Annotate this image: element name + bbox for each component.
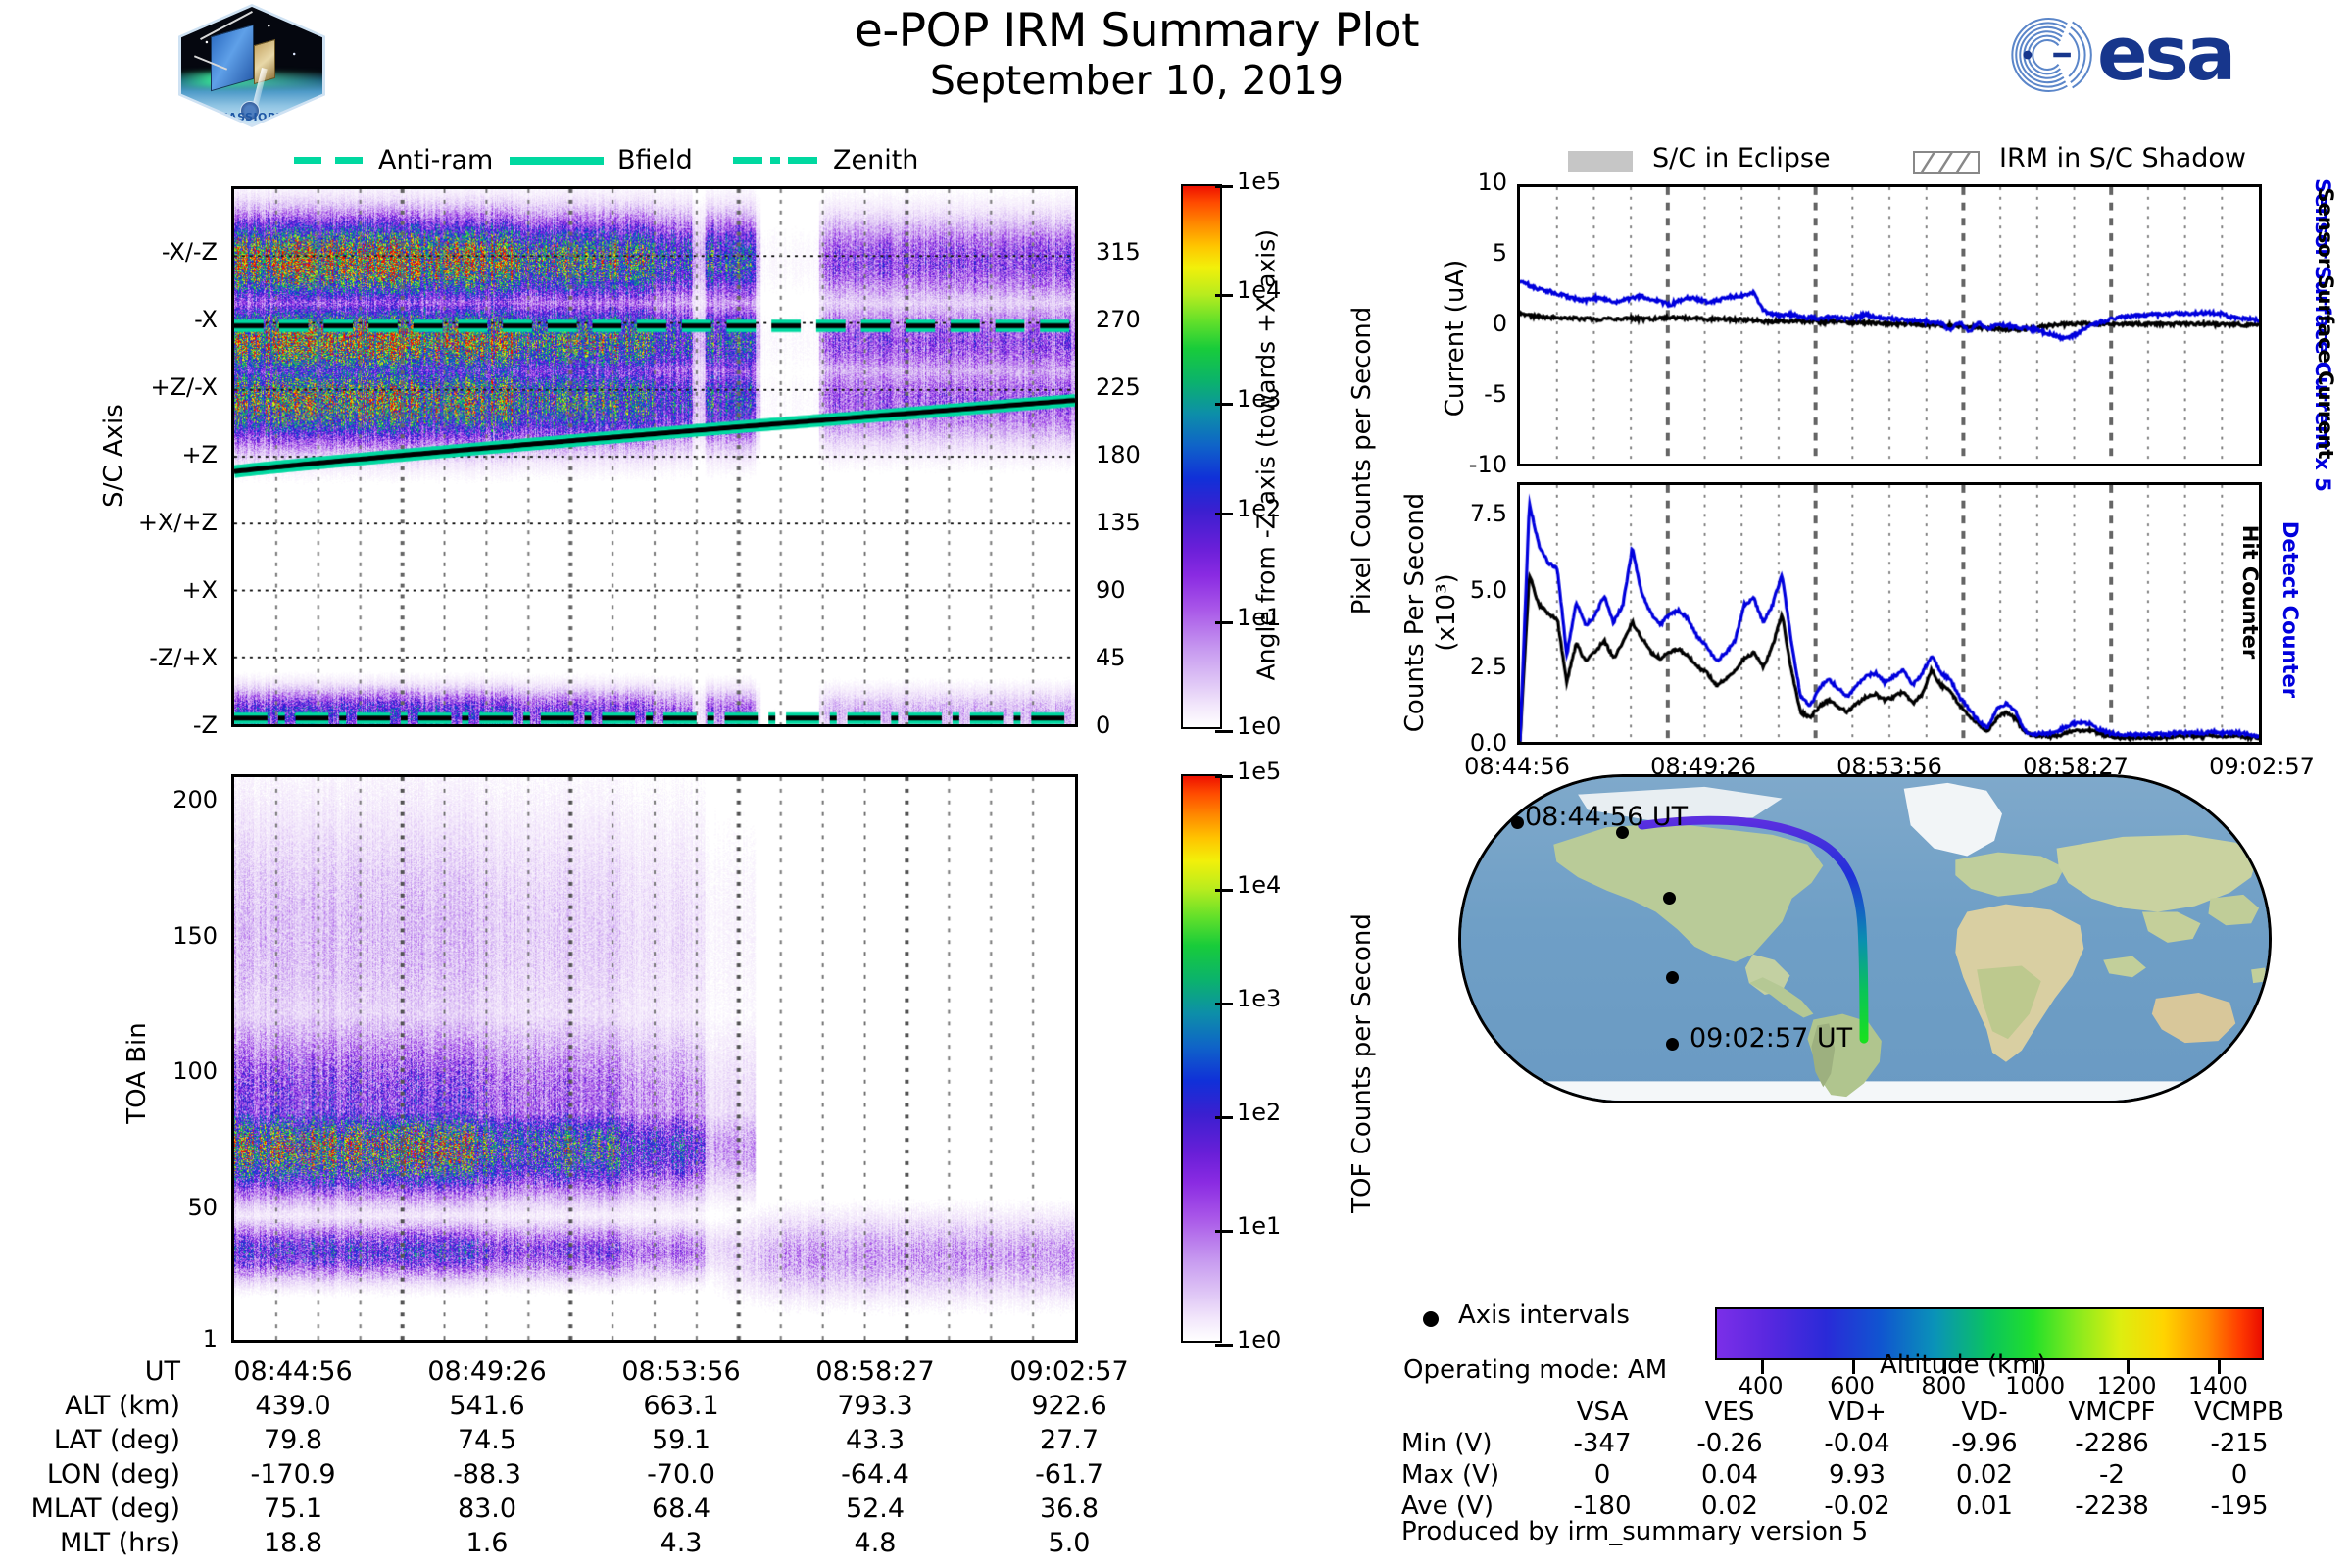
colorbar-tickmark-1	[1215, 889, 1233, 892]
counts-xtick-4: 09:02:57	[2183, 753, 2340, 780]
voltage-header-row: VSAVESVD+VD-VMCPFVCMPB	[1401, 1396, 2303, 1428]
track-end-label: 09:02:57 UT	[1690, 1023, 1852, 1053]
ephemeris-cell: -61.7	[972, 1457, 1166, 1492]
toa-spectrogram-canvas	[234, 777, 1075, 1340]
colorbar-tick-1e0: 1e0	[1237, 712, 1281, 740]
legend-label-shadow: IRM in S/C Shadow	[1999, 143, 2246, 173]
eclipse-swatch	[1568, 151, 1633, 172]
counts-right-label-blue: Detect Counter	[2278, 487, 2302, 732]
ephemeris-cell: 439.0	[196, 1389, 390, 1423]
colorbar-tickmark-2	[1215, 403, 1233, 406]
bfield-legend-swatch	[510, 157, 604, 165]
alt-tick-1400: 1400	[2169, 1372, 2267, 1399]
current-ytick--10: -10	[1401, 451, 1507, 478]
colorbar-tickmark-4	[1215, 621, 1233, 624]
zenith-legend-swatch	[733, 157, 762, 164]
ephemeris-cell: 83.0	[390, 1492, 584, 1526]
esa-logo: esa	[2003, 8, 2297, 102]
zenith-legend-swatch-2	[788, 157, 817, 164]
counts-xtick-0: 08:44:56	[1439, 753, 1595, 780]
counts-plot[interactable]	[1517, 482, 2262, 745]
cassiope-wordmark: CASSIOPE	[181, 111, 322, 123]
track-start-label: 08:44:56 UT	[1525, 802, 1688, 832]
voltage-cell: -347	[1539, 1428, 1666, 1459]
voltage-table: VSAVESVD+VD-VMCPFVCMPBMin (V)-347-0.26-0…	[1401, 1396, 2303, 1522]
page-subtitle: September 10, 2019	[745, 57, 1529, 104]
anti-ram-legend-swatch	[294, 157, 321, 164]
operating-mode-label: Operating mode: AM	[1403, 1355, 1667, 1385]
current-ytick--5: -5	[1401, 380, 1507, 408]
spectrogram-angle-tick-6: 45	[1096, 644, 1154, 671]
esa-swirl-icon	[2003, 12, 2093, 98]
ephemeris-cell: 1.6	[390, 1526, 584, 1560]
toa-ytick-200: 200	[108, 786, 218, 813]
counts-plot-canvas	[1520, 485, 2259, 742]
current-right-label-black: Sensor Surface Current	[2314, 162, 2337, 485]
colorbar-tickmark-5	[1215, 730, 1233, 733]
spectrogram-angle-tick-0: 315	[1096, 238, 1154, 266]
voltage-header-cell: VD-	[1921, 1396, 2048, 1428]
ephemeris-row-label: UT	[20, 1354, 196, 1389]
ephemeris-row: MLT (hrs)18.81.64.34.85.0	[20, 1526, 1166, 1560]
track-start-marker	[1511, 816, 1524, 829]
ephemeris-cell: -170.9	[196, 1457, 390, 1492]
ephemeris-table: UT08:44:5608:49:2608:53:5608:58:2709:02:…	[20, 1354, 1166, 1560]
toa-ytick-100: 100	[108, 1057, 218, 1085]
ephemeris-row: LON (deg)-170.9-88.3-70.0-64.4-61.7	[20, 1457, 1166, 1492]
colorbar-tick-1e2: 1e2	[1237, 495, 1281, 522]
voltage-cell: -195	[2176, 1491, 2303, 1522]
voltage-cell: 9.93	[1793, 1459, 1921, 1491]
produced-by-label: Produced by irm_summary version 5	[1401, 1517, 1868, 1546]
spectrogram-ytick-2: +Z/-X	[88, 373, 218, 401]
voltage-row-label: Min (V)	[1401, 1428, 1539, 1459]
ephemeris-cell: 793.3	[778, 1389, 972, 1423]
spectrogram-angle-tick-2: 225	[1096, 373, 1154, 401]
voltage-header-cell: VES	[1666, 1396, 1793, 1428]
ephemeris-cell: 27.7	[972, 1423, 1166, 1457]
current-ytick-10: 10	[1401, 169, 1507, 196]
ephemeris-cell: -70.0	[584, 1457, 778, 1492]
spectrogram-angle-tick-3: 180	[1096, 441, 1154, 468]
voltage-cell: -215	[2176, 1428, 2303, 1459]
colorbar-tickmark-0	[1215, 185, 1233, 188]
voltage-cell: -2286	[2048, 1428, 2176, 1459]
colorbar-tick-1e5: 1e5	[1237, 168, 1281, 195]
legend-label-eclipse: S/C in Eclipse	[1652, 143, 1831, 173]
ephemeris-cell: 08:44:56	[196, 1354, 390, 1389]
voltage-cell: -0.26	[1666, 1428, 1793, 1459]
spectrogram-angle-tick-5: 90	[1096, 576, 1154, 604]
angle-spectrogram-plot[interactable]	[231, 186, 1078, 727]
ephemeris-cell: 922.6	[972, 1389, 1166, 1423]
colorbar-tickmark-3	[1215, 513, 1233, 515]
spectrogram-angle-tick-1: 270	[1096, 306, 1154, 333]
spectrogram-ytick-3: +Z	[88, 441, 218, 468]
axis-intervals-marker	[1423, 1311, 1439, 1327]
colorbar-tick-1e1: 1e1	[1237, 604, 1281, 631]
spectrogram-legend: Anti-ram Bfield Zenith	[294, 145, 1000, 180]
tof-counts-colorbar-label: TOF Counts per Second	[1347, 867, 1377, 1259]
voltage-cell: 0.04	[1666, 1459, 1793, 1491]
altitude-colorbar-label: Altitude (km)	[1880, 1350, 2047, 1380]
current-ytick-5: 5	[1401, 239, 1507, 267]
voltage-row: Max (V)00.049.930.02-20	[1401, 1459, 2303, 1491]
colorbar-tickmark-4	[1215, 1230, 1233, 1233]
voltage-cell: -9.96	[1921, 1428, 2048, 1459]
colorbar-tickmark-5	[1215, 1344, 1233, 1347]
ephemeris-cell: 59.1	[584, 1423, 778, 1457]
colorbar-tick-1e1: 1e1	[1237, 1212, 1281, 1240]
ephemeris-row: LAT (deg)79.874.559.143.327.7	[20, 1423, 1166, 1457]
colorbar-tick-1e4: 1e4	[1237, 276, 1281, 304]
ephemeris-cell: 08:58:27	[778, 1354, 972, 1389]
voltage-header-cell: VD+	[1793, 1396, 1921, 1428]
axis-intervals-label: Axis intervals	[1458, 1300, 1630, 1330]
ephemeris-cell: 08:49:26	[390, 1354, 584, 1389]
shadow-swatch	[1913, 151, 1980, 174]
counts-right-label-black: Hit Counter	[2238, 494, 2262, 690]
ephemeris-row-label: LAT (deg)	[20, 1423, 196, 1457]
counts-ytick-5: 5.0	[1401, 576, 1507, 604]
spectrogram-ytick-5: +X	[88, 576, 218, 604]
ephemeris-cell: 663.1	[584, 1389, 778, 1423]
toa-spectrogram-plot[interactable]	[231, 774, 1078, 1343]
legend-label-anti-ram: Anti-ram	[378, 145, 493, 175]
ephemeris-cell: 08:53:56	[584, 1354, 778, 1389]
colorbar-tick-1e0: 1e0	[1237, 1326, 1281, 1353]
voltage-header-cell: VCMPB	[2176, 1396, 2303, 1428]
cassiope-logo: CASSIOPE	[178, 4, 325, 127]
colorbar-tickmark-1	[1215, 294, 1233, 297]
ephemeris-cell: 79.8	[196, 1423, 390, 1457]
spectrogram-angle-tick-4: 135	[1096, 509, 1154, 536]
zenith-legend-dot	[770, 157, 780, 164]
ephemeris-cell: 09:02:57	[972, 1354, 1166, 1389]
voltage-row-label: Max (V)	[1401, 1459, 1539, 1491]
ephemeris-cell: 4.8	[778, 1526, 972, 1560]
toa-ytick-50: 50	[108, 1194, 218, 1221]
voltage-cell: -2	[2048, 1459, 2176, 1491]
spectrogram-ytick-6: -Z/+X	[88, 644, 218, 671]
current-plot-canvas	[1520, 187, 2259, 464]
ephemeris-cell: 4.3	[584, 1526, 778, 1560]
colorbar-tickmark-2	[1215, 1003, 1233, 1005]
legend-label-bfield: Bfield	[617, 145, 693, 175]
colorbar-tick-1e5: 1e5	[1237, 758, 1281, 785]
ephemeris-cell: 74.5	[390, 1423, 584, 1457]
voltage-cell: 0.02	[1921, 1459, 2048, 1491]
ephemeris-row-label: LON (deg)	[20, 1457, 196, 1492]
colorbar-tick-1e2: 1e2	[1237, 1099, 1281, 1126]
ephemeris-row-label: MLAT (deg)	[20, 1492, 196, 1526]
colorbar-tick-1e3: 1e3	[1237, 985, 1281, 1012]
ephemeris-row-label: MLT (hrs)	[20, 1526, 196, 1560]
track-interval-marker-2	[1663, 892, 1676, 905]
voltage-header-cell: VSA	[1539, 1396, 1666, 1428]
spectrogram-ytick-1: -X	[88, 306, 218, 333]
colorbar-tickmark-0	[1215, 775, 1233, 778]
tof-counts-colorbar	[1181, 774, 1222, 1343]
ephemeris-cell: 541.6	[390, 1389, 584, 1423]
toa-ytick-1: 1	[108, 1325, 218, 1352]
ephemeris-row: MLAT (deg)75.183.068.452.436.8	[20, 1492, 1166, 1526]
colorbar-tick-1e3: 1e3	[1237, 385, 1281, 413]
track-interval-marker-3	[1666, 971, 1679, 984]
counts-ytick-7.5: 7.5	[1401, 500, 1507, 527]
colorbar-tick-1e4: 1e4	[1237, 871, 1281, 899]
current-plot[interactable]	[1517, 184, 2262, 466]
ephemeris-cell: 75.1	[196, 1492, 390, 1526]
ephemeris-cell: 5.0	[972, 1526, 1166, 1560]
spectrogram-ytick-4: +X/+Z	[88, 509, 218, 536]
counts-ytick-2.5: 2.5	[1401, 653, 1507, 680]
ephemeris-row-label: ALT (km)	[20, 1389, 196, 1423]
ephemeris-cell: 36.8	[972, 1492, 1166, 1526]
voltage-header-cell	[1401, 1396, 1539, 1428]
alt-tick-400: 400	[1712, 1372, 1810, 1399]
ephemeris-cell: 68.4	[584, 1492, 778, 1526]
pixel-counts-colorbar	[1181, 184, 1222, 729]
current-ytick-0: 0	[1401, 310, 1507, 337]
voltage-header-cell: VMCPF	[2048, 1396, 2176, 1428]
ephemeris-cell: 18.8	[196, 1526, 390, 1560]
voltage-cell: -0.04	[1793, 1428, 1921, 1459]
voltage-cell: -2238	[2048, 1491, 2176, 1522]
spectrogram-ytick-0: -X/-Z	[88, 238, 218, 266]
spectrogram-angle-tick-7: 0	[1096, 711, 1154, 739]
ephemeris-cell: -64.4	[778, 1457, 972, 1492]
alt-tick-1200: 1200	[2078, 1372, 2176, 1399]
colorbar-tickmark-3	[1215, 1116, 1233, 1119]
voltage-row: Min (V)-347-0.26-0.04-9.96-2286-215	[1401, 1428, 2303, 1459]
legend-label-zenith: Zenith	[833, 145, 918, 175]
ephemeris-row: UT08:44:5608:49:2608:53:5608:58:2709:02:…	[20, 1354, 1166, 1389]
ephemeris-cell: 43.3	[778, 1423, 972, 1457]
page-title: e-POP IRM Summary Plot	[745, 4, 1529, 58]
voltage-cell: 0	[1539, 1459, 1666, 1491]
anti-ram-legend-swatch-2	[335, 157, 363, 164]
track-end-marker	[1666, 1038, 1679, 1051]
eclipse-legend: S/C in Eclipse IRM in S/C Shadow	[1568, 145, 2313, 180]
voltage-cell: 0	[2176, 1459, 2303, 1491]
ephemeris-cell: -88.3	[390, 1457, 584, 1492]
angle-spectrogram-canvas	[234, 189, 1075, 724]
ephemeris-row: ALT (km)439.0541.6663.1793.3922.6	[20, 1389, 1166, 1423]
toa-ytick-150: 150	[108, 922, 218, 950]
spectrogram-ytick-7: -Z	[88, 711, 218, 739]
esa-wordmark: esa	[2097, 12, 2233, 96]
ephemeris-cell: 52.4	[778, 1492, 972, 1526]
voltage-cell: 0.01	[1921, 1491, 2048, 1522]
